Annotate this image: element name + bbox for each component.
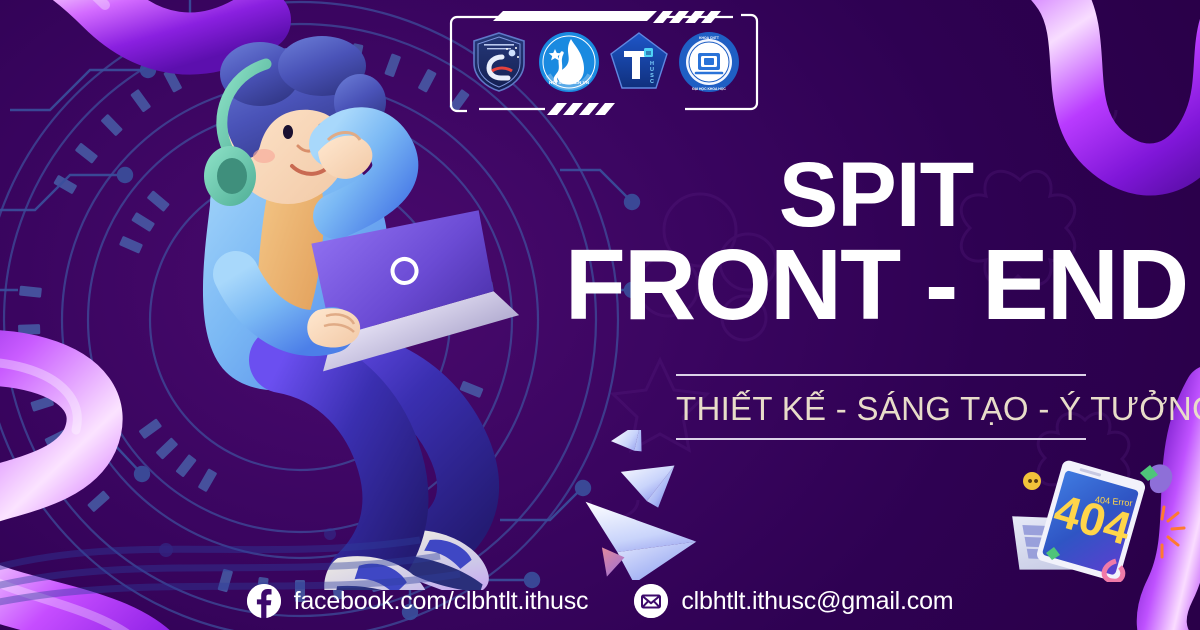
footer-contacts: facebook.com/clbhtlt.ithusc clbhtlt.ithu…	[0, 584, 1200, 618]
logo-frame: HỘI SINH VIÊN VN H U	[449, 9, 759, 117]
contact-email[interactable]: clbhtlt.ithusc@gmail.com	[634, 584, 953, 618]
faculty-seal-logo: KHOA CNTT ĐẠI HỌC KHOA HỌC	[678, 31, 740, 93]
facebook-url-text: facebook.com/clbhtlt.ithusc	[294, 587, 589, 616]
email-address-text: clbhtlt.ithusc@gmail.com	[681, 587, 953, 616]
svg-text:C: C	[650, 79, 654, 85]
svg-text:KHOA CNTT: KHOA CNTT	[699, 36, 720, 40]
subtitle-text: THIẾT KẾ - SÁNG TẠO - Ý TƯỞNG	[676, 376, 1086, 438]
husc-university-shield-logo	[468, 31, 530, 93]
title-line-2: FRONT - END	[556, 235, 1196, 335]
promo-banner: 404 404 Error	[0, 0, 1200, 630]
subtitle-rule-bottom	[676, 438, 1086, 440]
title-line-1: SPIT	[566, 152, 1187, 239]
svg-text:ĐẠI HỌC KHOA HỌC: ĐẠI HỌC KHOA HỌC	[692, 87, 726, 91]
contact-facebook[interactable]: facebook.com/clbhtlt.ithusc	[247, 584, 589, 618]
it-husc-club-logo: H U S C	[608, 31, 670, 93]
svg-text:HỘI SINH VIÊN VN: HỘI SINH VIÊN VN	[549, 78, 590, 85]
logo-row: HỘI SINH VIÊN VN H U	[449, 25, 759, 99]
email-icon[interactable]	[634, 584, 668, 618]
vietnam-student-association-logo: HỘI SINH VIÊN VN	[538, 31, 600, 93]
subtitle-block: THIẾT KẾ - SÁNG TẠO - Ý TƯỞNG	[676, 374, 1086, 440]
headline-block: SPIT FRONT - END	[556, 152, 1196, 335]
facebook-icon[interactable]	[247, 584, 281, 618]
laptop-404-decoration: 404 404 Error	[1012, 457, 1192, 582]
